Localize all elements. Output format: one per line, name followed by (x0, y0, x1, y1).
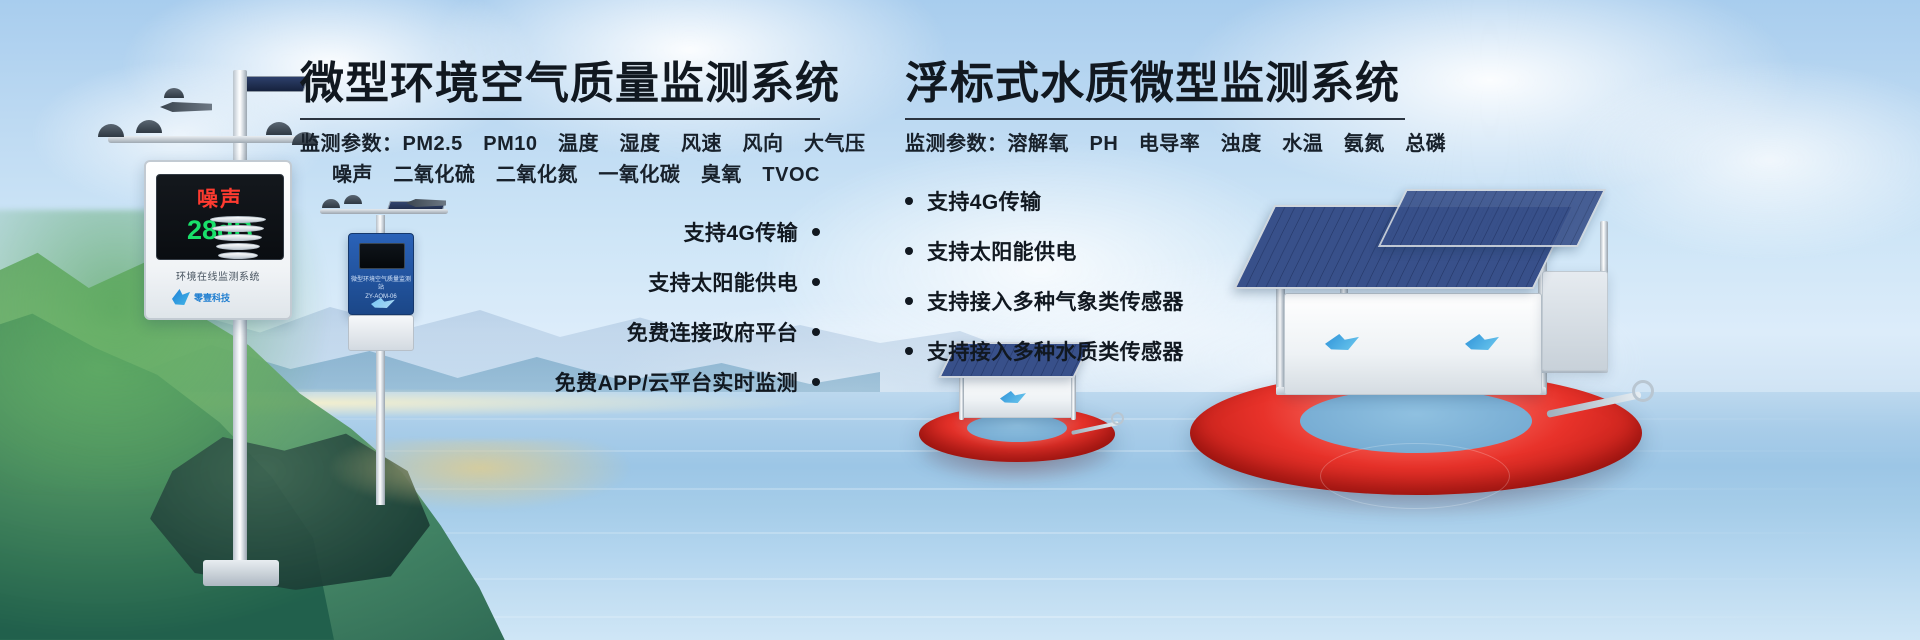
left-divider (300, 118, 820, 120)
left-bullet-3-label: 免费连接政府平台 (627, 317, 798, 347)
left-bullet-4-label: 免费APP/云平台实时监测 (555, 367, 798, 397)
right-params-label: 监测参数： (905, 133, 1008, 155)
list-item: 免费APP/云平台实时监测 (300, 367, 820, 397)
right-bullet-1-label: 支持4G传输 (927, 186, 1041, 216)
list-item: 支持4G传输 (300, 217, 820, 247)
station-pole (233, 70, 247, 570)
right-feature-list: 支持4G传输 支持太阳能供电 支持接入多种气象类传感器 支持接入多种水质类传感器 (905, 186, 1405, 366)
left-feature-list: 支持4G传输 支持太阳能供电 免费连接政府平台 免费APP/云平台实时监测 (300, 217, 820, 397)
list-item: 免费连接政府平台 (300, 317, 820, 347)
rain-sensor-icon (164, 88, 184, 98)
left-headline: 微型环境空气质量监测系统 (300, 58, 820, 110)
bullet-dot-icon (812, 278, 820, 286)
bullet-dot-icon (905, 347, 913, 355)
station-base (203, 560, 279, 586)
brand-mark-icon (1465, 334, 1499, 350)
right-divider (905, 118, 1405, 120)
noise-label: 噪声 (197, 188, 243, 211)
left-text-panel: 微型环境空气质量监测系统 监测参数：PM2.5 PM10 温度 湿度 风速 风向… (300, 58, 820, 417)
left-params-label: 监测参数： (300, 133, 403, 155)
buoy-cage-net (1320, 443, 1510, 509)
brand-name: 零壹科技 (194, 291, 230, 304)
left-params-values-1: PM2.5 PM10 温度 湿度 风速 风向 大气压 (403, 133, 866, 155)
solar-panel-icon (238, 76, 309, 92)
right-params-line1: 监测参数：溶解氧 PH 电导率 浊度 水温 氨氮 总磷 (905, 129, 1405, 160)
right-bullet-4-label: 支持接入多种水质类传感器 (927, 336, 1184, 366)
right-headline: 浮标式水质微型监测系统 (905, 58, 1405, 110)
list-item: 支持4G传输 (905, 186, 1405, 216)
list-item: 支持接入多种水质类传感器 (905, 336, 1405, 366)
bullet-dot-icon (812, 228, 820, 236)
solar-panel-large-back (1378, 189, 1606, 247)
list-item: 支持太阳能供电 (905, 236, 1405, 266)
right-params-values-1: 溶解氧 PH 电导率 浊度 水温 氨氮 总磷 (1008, 133, 1447, 155)
list-item: 支持接入多种气象类传感器 (905, 286, 1405, 316)
sensor-crossarm (108, 136, 298, 143)
buoy-ring-hole (967, 414, 1067, 442)
anemometer-cup-icon (266, 122, 292, 135)
left-params-line2: 噪声 二氧化硫 二氧化氮 一氧化碳 臭氧 TVOC (300, 160, 820, 191)
bullet-dot-icon (905, 297, 913, 305)
left-bullet-2-label: 支持太阳能供电 (648, 267, 798, 297)
wind-vane-icon (160, 102, 212, 112)
bullet-dot-icon (905, 197, 913, 205)
right-bullet-2-label: 支持太阳能供电 (927, 236, 1077, 266)
bullet-dot-icon (905, 247, 913, 255)
anemometer-cup-icon (98, 124, 124, 137)
buoy-antenna-ring-icon (1111, 412, 1124, 425)
bullet-dot-icon (812, 378, 820, 386)
buoy-antenna-ring-icon (1632, 380, 1654, 402)
left-bullet-1-label: 支持4G传输 (684, 217, 798, 247)
radiation-shield-icon (210, 216, 266, 264)
list-item: 支持太阳能供电 (300, 267, 820, 297)
brand-logo: 零壹科技 (172, 286, 268, 308)
anemometer-cup-icon (136, 120, 162, 133)
left-params-line1: 监测参数：PM2.5 PM10 温度 湿度 风速 风向 大气压 (300, 129, 820, 160)
bullet-dot-icon (812, 328, 820, 336)
banner-canvas: 噪声 28dB 环境在线监测系统 零壹科技 微型环境空气质量监测站 ZY-AQM… (0, 0, 1920, 640)
right-bullet-3-label: 支持接入多种气象类传感器 (927, 286, 1184, 316)
buoy-body-side (1542, 271, 1608, 371)
right-text-panel: 浮标式水质微型监测系统 监测参数：溶解氧 PH 电导率 浊度 水温 氨氮 总磷 … (905, 58, 1405, 386)
device-caption: 环境在线监测系统 (146, 268, 290, 283)
brand-mark-icon (172, 289, 190, 305)
brand-mark-icon (1000, 391, 1026, 403)
